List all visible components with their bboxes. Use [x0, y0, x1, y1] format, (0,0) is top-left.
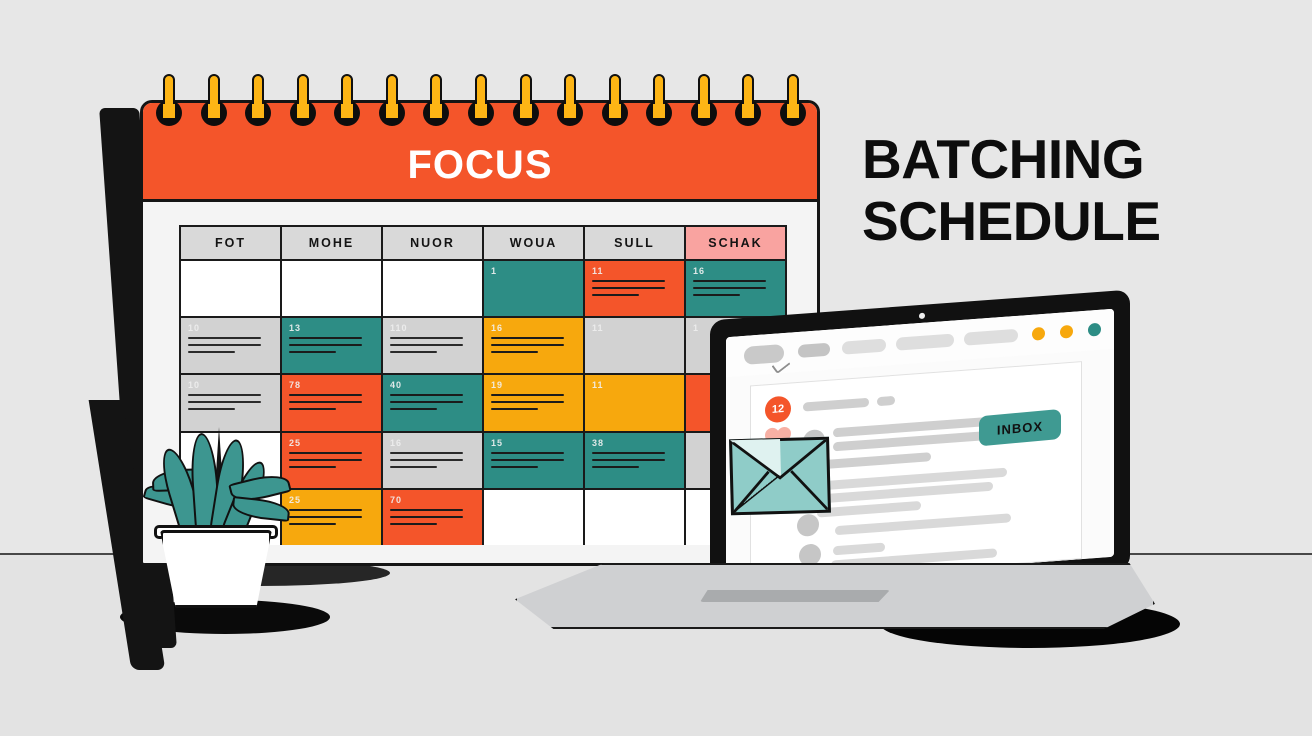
- event-line: [390, 337, 463, 339]
- webcam-icon: [919, 313, 925, 319]
- spiral-ring: [245, 74, 271, 130]
- calendar-day-cell[interactable]: 10: [181, 375, 282, 430]
- event-lines: [390, 509, 475, 525]
- toolbar-dot-1[interactable]: [1032, 327, 1045, 341]
- spiral-wire-cap: [787, 104, 799, 118]
- spiral-ring: [646, 74, 672, 130]
- spiral-ring: [513, 74, 539, 130]
- day-number: 1: [491, 266, 576, 276]
- calendar-column-header-0[interactable]: FOT: [181, 227, 282, 259]
- spiral-ring: [735, 74, 761, 130]
- trackpad[interactable]: [700, 590, 890, 602]
- calendar-day-cell[interactable]: [282, 261, 383, 316]
- event-line: [390, 466, 437, 468]
- event-lines: [693, 280, 778, 296]
- event-line: [289, 344, 362, 346]
- calendar-column-header-3[interactable]: WOUA: [484, 227, 585, 259]
- calendar-day-cell[interactable]: 70: [383, 490, 484, 545]
- spiral-ring: [602, 74, 628, 130]
- avatar: [797, 513, 819, 537]
- day-number: 110: [390, 323, 475, 333]
- toolbar-dot-2[interactable]: [1060, 325, 1073, 339]
- calendar-day-cell[interactable]: 78: [282, 375, 383, 430]
- event-lines: [188, 337, 273, 353]
- scene: FOCUS FOTMOHENUORWOUASULLSCHAK 111161013…: [0, 0, 1312, 736]
- back-arrow-icon: [772, 356, 791, 374]
- calendar-column-headers: FOTMOHENUORWOUASULLSCHAK: [181, 227, 785, 261]
- calendar-day-cell[interactable]: 16: [383, 433, 484, 488]
- plant-pot: [160, 530, 272, 608]
- spiral-wire-cap: [163, 104, 175, 118]
- day-number: 16: [693, 266, 778, 276]
- event-line: [390, 523, 437, 525]
- spiral-ring: [423, 74, 449, 130]
- spiral-wire-cap: [564, 104, 576, 118]
- spiral-ring: [201, 74, 227, 130]
- spiral-wire-cap: [386, 104, 398, 118]
- event-lines: [390, 337, 475, 353]
- event-lines: [390, 394, 475, 410]
- notification-count-badge[interactable]: 12: [765, 395, 791, 423]
- spiral-ring: [334, 74, 360, 130]
- calendar-day-cell[interactable]: 13: [282, 318, 383, 373]
- list-item[interactable]: [825, 452, 931, 469]
- spiral-ring: [290, 74, 316, 130]
- list-item[interactable]: [833, 543, 885, 556]
- back-button[interactable]: [744, 344, 784, 365]
- day-number: 40: [390, 380, 475, 390]
- inbox-badge[interactable]: INBOX: [979, 409, 1061, 446]
- event-line: [592, 280, 665, 282]
- event-line: [592, 287, 665, 289]
- calendar-column-header-5[interactable]: SCHAK: [686, 227, 785, 259]
- spiral-wire-cap: [698, 104, 710, 118]
- event-line: [390, 408, 437, 410]
- spiral-ring: [379, 74, 405, 130]
- spiral-wire-cap: [653, 104, 665, 118]
- spiral-wire-cap: [609, 104, 621, 118]
- day-number: 16: [390, 438, 475, 448]
- spiral-wire-cap: [742, 104, 754, 118]
- spiral-binding: [156, 74, 806, 134]
- spiral-ring: [780, 74, 806, 130]
- event-line: [188, 394, 261, 396]
- calendar-day-cell[interactable]: 10: [181, 318, 282, 373]
- toolbar-dot-3[interactable]: [1088, 323, 1101, 337]
- event-line: [693, 280, 766, 282]
- event-line: [289, 337, 362, 339]
- event-line: [390, 351, 437, 353]
- event-line: [188, 337, 261, 339]
- event-line: [592, 294, 639, 296]
- event-line: [289, 408, 336, 410]
- event-line: [289, 351, 336, 353]
- day-number: 70: [390, 495, 475, 505]
- event-line: [390, 516, 463, 518]
- toolbar-item-2[interactable]: [842, 338, 886, 354]
- list-item[interactable]: [803, 398, 869, 412]
- event-line: [289, 394, 362, 396]
- envelope-icon: [729, 437, 831, 516]
- laptop: 12: [505, 305, 1165, 635]
- event-line: [390, 344, 463, 346]
- calendar-day-cell[interactable]: 110: [383, 318, 484, 373]
- envelope-flap: [730, 439, 781, 478]
- calendar-day-cell[interactable]: [181, 261, 282, 316]
- day-number: 10: [188, 380, 273, 390]
- toolbar-item-1[interactable]: [798, 343, 830, 358]
- calendar-title: FOCUS: [143, 143, 817, 187]
- event-line: [390, 459, 463, 461]
- event-lines: [289, 394, 374, 410]
- event-line: [188, 408, 235, 410]
- toolbar-item-4[interactable]: [964, 329, 1018, 346]
- spiral-ring: [557, 74, 583, 130]
- day-number: 10: [188, 323, 273, 333]
- event-line: [390, 509, 463, 511]
- spiral-wire-cap: [520, 104, 532, 118]
- event-line: [188, 401, 261, 403]
- headline-line-1: BATCHING: [862, 128, 1282, 190]
- calendar-column-header-1[interactable]: MOHE: [282, 227, 383, 259]
- event-lines: [592, 280, 677, 296]
- calendar-day-cell[interactable]: 40: [383, 375, 484, 430]
- day-number: 13: [289, 323, 374, 333]
- event-line: [188, 344, 261, 346]
- calendar-column-header-2[interactable]: NUOR: [383, 227, 484, 259]
- event-lines: [289, 337, 374, 353]
- spiral-ring: [691, 74, 717, 130]
- event-line: [289, 401, 362, 403]
- spiral-ring: [156, 74, 182, 130]
- spiral-wire-cap: [475, 104, 487, 118]
- list-item[interactable]: [835, 513, 1011, 535]
- spiral-wire-cap: [297, 104, 309, 118]
- spiral-wire-cap: [252, 104, 264, 118]
- event-line: [390, 401, 463, 403]
- spiral-wire-cap: [208, 104, 220, 118]
- calendar-day-cell[interactable]: [383, 261, 484, 316]
- day-number: 11: [592, 266, 677, 276]
- spiral-wire-cap: [341, 104, 353, 118]
- list-item[interactable]: [817, 501, 921, 518]
- spiral-ring: [468, 74, 494, 130]
- event-line: [390, 394, 463, 396]
- event-line: [188, 351, 235, 353]
- event-lines: [188, 394, 273, 410]
- event-lines: [390, 452, 475, 468]
- spiral-wire-cap: [430, 104, 442, 118]
- calendar-column-header-4[interactable]: SULL: [585, 227, 686, 259]
- day-number: 78: [289, 380, 374, 390]
- page-title: BATCHING SCHEDULE: [862, 128, 1282, 252]
- headline-line-2: SCHEDULE: [862, 190, 1282, 252]
- potted-plant: [138, 425, 328, 605]
- event-line: [693, 294, 740, 296]
- list-item[interactable]: [877, 396, 895, 406]
- toolbar-item-3[interactable]: [896, 334, 954, 351]
- event-line: [390, 452, 463, 454]
- event-line: [693, 287, 766, 289]
